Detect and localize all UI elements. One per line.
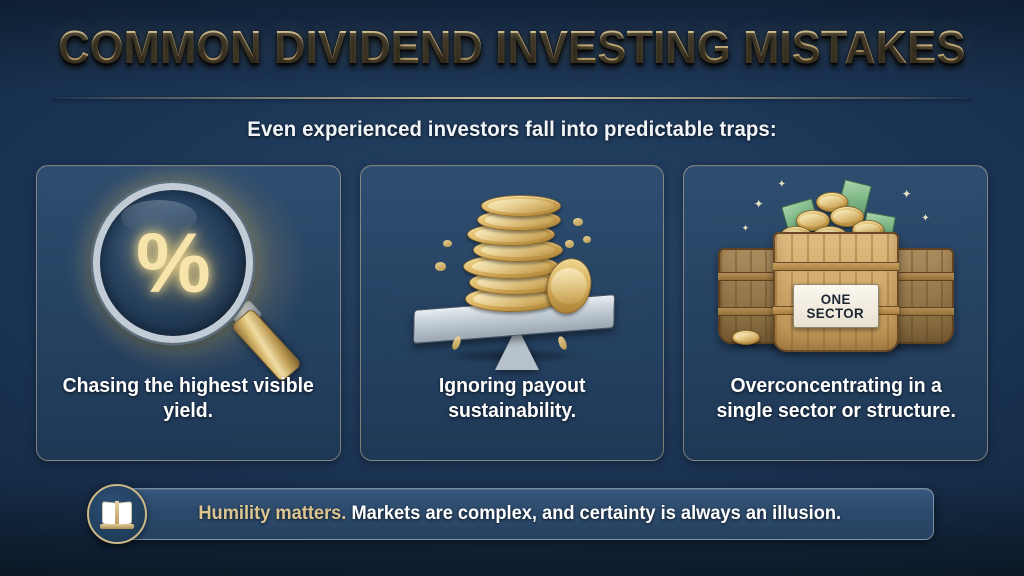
footer-message: Humility matters. Markets are complex, a…	[198, 503, 841, 525]
coin-fragment	[435, 262, 446, 271]
magnifier-lens	[93, 183, 253, 343]
card-2-artwork	[361, 166, 664, 378]
baskets-one-sector-icon: ✦ ✦ ✦ ✦ ✦	[718, 172, 954, 372]
card-3-caption: Overconcentrating in a single sector or …	[706, 374, 964, 424]
card-1-artwork: %	[37, 166, 340, 378]
coin	[481, 195, 561, 217]
mistake-card-2: Ignoring payout sustainability.	[360, 165, 665, 461]
book-spine	[115, 501, 119, 525]
title-divider	[52, 97, 972, 99]
sparkle-icon: ✦	[754, 198, 764, 210]
footer-lead: Humility matters.	[198, 503, 346, 524]
mistake-card-3: ✦ ✦ ✦ ✦ ✦	[683, 165, 988, 461]
footer-banner: Humility matters. Markets are complex, a…	[96, 488, 934, 540]
sign-line-2: SECTOR	[807, 306, 864, 320]
sparkle-icon: ✦	[902, 188, 912, 200]
sparkle-icon: ✦	[921, 214, 929, 224]
card-3-artwork: ✦ ✦ ✦ ✦ ✦	[684, 166, 987, 378]
open-book-icon	[102, 502, 132, 526]
magnifier-handle	[231, 308, 303, 383]
mistake-card-1: % Chasing the highest visible yield.	[36, 165, 341, 461]
page-title: COMMON DIVIDEND INVESTING MISTAKES	[31, 24, 994, 70]
footer-body: Markets are complex, and certainty is al…	[346, 503, 841, 524]
infographic-poster: COMMON DIVIDEND INVESTING MISTAKES Even …	[0, 0, 1024, 576]
coins-on-tilting-slab-icon	[407, 174, 617, 370]
mistake-card-list: % Chasing the highest visible yield.	[36, 165, 988, 461]
coin-fragment	[443, 240, 452, 247]
card-1-caption: Chasing the highest visible yield.	[59, 374, 317, 424]
coin-fragment	[573, 218, 583, 226]
book-base	[100, 524, 134, 529]
page-subtitle: Even experienced investors fall into pre…	[15, 118, 1008, 142]
sparkle-icon: ✦	[742, 224, 750, 233]
coin-fragment	[583, 236, 591, 243]
stray-coin	[732, 330, 760, 345]
coin-fragment	[565, 240, 574, 248]
footer-badge	[87, 484, 147, 544]
magnifying-glass-percent-icon: %	[85, 177, 291, 367]
one-sector-sign: ONE SECTOR	[793, 284, 879, 328]
coin-fragment	[557, 335, 569, 351]
sign-line-1: ONE	[821, 292, 851, 306]
card-2-caption: Ignoring payout sustainability.	[383, 374, 641, 424]
